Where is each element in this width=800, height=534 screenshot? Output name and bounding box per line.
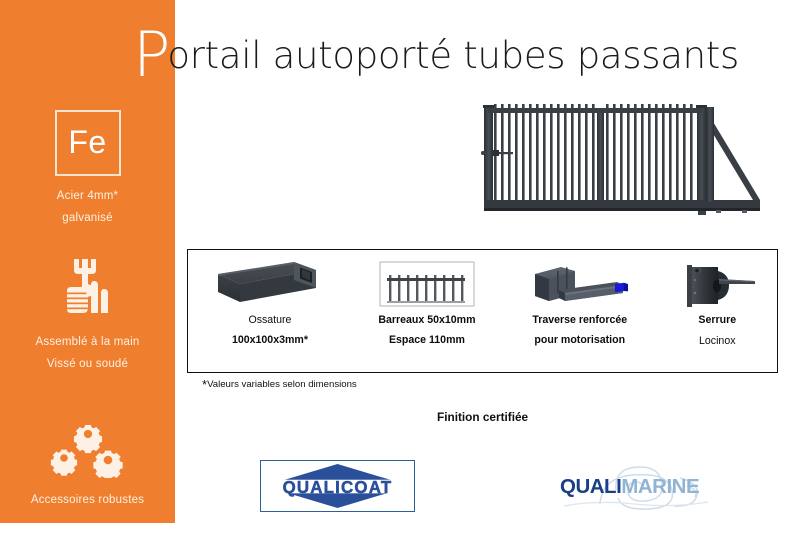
certification-heading: Finition certifiée bbox=[437, 410, 528, 424]
qualicoat-logo: QUALICOAT bbox=[260, 460, 415, 512]
footnote: *Valeurs variables selon dimensions bbox=[202, 379, 357, 390]
feature-item-bars-line1: Barreaux 50x10mm bbox=[378, 315, 475, 327]
sidebar-feature-assembly-line2: Vissé ou soudé bbox=[0, 356, 175, 374]
sidebar-feature-accessories: Accessoires robustes bbox=[0, 408, 175, 510]
sidebar-feature-steel-line2: galvanisé bbox=[0, 210, 175, 228]
feature-item-bars: Barreaux 50x10mm Espace 110mm bbox=[352, 250, 502, 372]
footnote-text: Valeurs variables selon dimensions bbox=[207, 379, 357, 390]
sidebar-feature-steel: Fe Acier 4mm* galvanisé bbox=[0, 104, 175, 228]
qualimarine-part-dark: QUALI bbox=[560, 475, 621, 498]
steel-frame-profile-icon bbox=[216, 257, 324, 313]
feature-item-crossbar-line1: Traverse renforcée bbox=[532, 315, 627, 327]
fe-badge-text: Fe bbox=[68, 126, 106, 158]
feature-item-bars-line2: Espace 110mm bbox=[378, 335, 475, 347]
feature-item-lock: Serrure Locinox bbox=[658, 250, 777, 372]
qualimarine-part-light: MARINE bbox=[621, 475, 699, 498]
qualimarine-logo: QUALIMARINE bbox=[556, 462, 716, 512]
cantilever-sliding-gate-illustration bbox=[470, 96, 775, 221]
title-text: ortail autoporté tubes passants bbox=[167, 34, 739, 77]
sidebar-feature-assembly: Assemblé à la main Vissé ou soudé bbox=[0, 250, 175, 374]
feature-item-frame-line1: Ossature bbox=[232, 315, 308, 327]
sidebar-feature-steel-line1: Acier 4mm* bbox=[0, 188, 175, 206]
feature-item-lock-line2: Locinox bbox=[698, 336, 736, 348]
datasheet-page: Fe Acier 4mm* galvanisé bbox=[0, 0, 800, 534]
sidebar-feature-accessories-line1: Accessoires robustes bbox=[0, 492, 175, 510]
title-drop-cap: P bbox=[133, 18, 170, 91]
feature-item-crossbar-caption: Traverse renforcée pour motorisation bbox=[532, 313, 627, 346]
fence-bars-panel-icon bbox=[379, 257, 475, 313]
feature-item-crossbar: Traverse renforcée pour motorisation bbox=[502, 250, 658, 372]
locinox-lock-icon bbox=[673, 257, 761, 313]
feature-item-frame-caption: Ossature 100x100x3mm* bbox=[232, 313, 308, 346]
fe-element-square-icon: Fe bbox=[0, 104, 175, 182]
feature-item-crossbar-line2: pour motorisation bbox=[532, 335, 627, 347]
feature-item-lock-line1: Serrure bbox=[698, 315, 736, 327]
three-gears-icon bbox=[0, 408, 175, 486]
footnote-asterisk: * bbox=[202, 377, 207, 392]
qualicoat-wordmark: QUALICOAT bbox=[283, 476, 393, 497]
sidebar-feature-assembly-line1: Assemblé à la main bbox=[0, 334, 175, 352]
feature-item-lock-caption: Serrure Locinox bbox=[698, 313, 736, 347]
feature-item-frame: Ossature 100x100x3mm* bbox=[188, 250, 352, 372]
feature-item-frame-line2: 100x100x3mm* bbox=[232, 335, 308, 347]
feature-item-bars-caption: Barreaux 50x10mm Espace 110mm bbox=[378, 313, 475, 346]
reinforced-crossbar-motor-icon bbox=[525, 257, 635, 313]
hand-holding-wrench-icon bbox=[0, 250, 175, 328]
qualimarine-wordmark: QUALIMARINE bbox=[560, 477, 699, 497]
features-specification-box: Ossature 100x100x3mm* bbox=[187, 249, 778, 373]
page-title: Portail autoporté tubes passants bbox=[133, 22, 742, 84]
